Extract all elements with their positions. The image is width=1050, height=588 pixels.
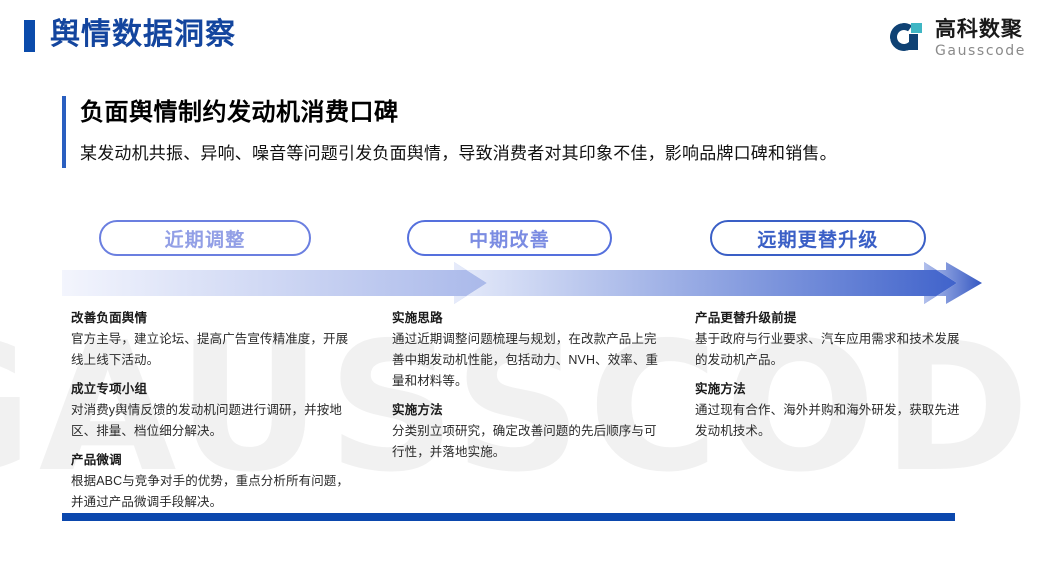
content-columns: 改善负面舆情 官方主导，建立论坛、提高广告宣传精准度，开展线上线下活动。 成立专… bbox=[62, 308, 982, 498]
block-heading: 成立专项小组 bbox=[71, 379, 356, 399]
content-block: 实施方法 通过现有合作、海外并购和海外研发，获取先进发动机技术。 bbox=[695, 379, 963, 442]
logo-accent-square bbox=[911, 23, 922, 33]
title-block: 负面舆情制约发动机消费口碑 某发动机共振、异响、噪音等问题引发负面舆情，导致消费… bbox=[62, 96, 962, 168]
main-title: 负面舆情制约发动机消费口碑 bbox=[80, 96, 962, 130]
block-body: 根据ABC与竞争对手的优势，重点分析所有问题，并通过产品微调手段解决。 bbox=[71, 471, 356, 513]
block-body: 分类别立项研究，确定改善问题的先后顺序与可行性，并落地实施。 bbox=[392, 421, 664, 463]
block-body: 通过近期调整问题梳理与规划，在改款产品上完善中期发动机性能，包括动力、NVH、效… bbox=[392, 329, 664, 392]
block-heading: 产品微调 bbox=[71, 450, 356, 470]
block-heading: 实施方法 bbox=[392, 400, 664, 420]
phase-pill-long-term[interactable]: 远期更替升级 bbox=[710, 220, 926, 256]
phase-label-row: 近期调整 中期改善 远期更替升级 bbox=[62, 220, 972, 258]
brand-logo-text: 高科数聚 Gausscode bbox=[935, 19, 1026, 58]
block-body: 对消费y舆情反馈的发动机问题进行调研，并按地区、排量、档位细分解决。 bbox=[71, 400, 356, 442]
brand-logo: 高科数聚 Gausscode bbox=[890, 16, 1026, 60]
page-title: 舆情数据洞察 bbox=[50, 13, 236, 57]
phase-pill-mid-term[interactable]: 中期改善 bbox=[407, 220, 612, 256]
logo-bar-shape bbox=[909, 34, 918, 50]
content-block: 成立专项小组 对消费y舆情反馈的发动机问题进行调研，并按地区、排量、档位细分解决… bbox=[71, 379, 356, 442]
content-block: 实施方法 分类别立项研究，确定改善问题的先后顺序与可行性，并落地实施。 bbox=[392, 400, 664, 463]
timeline-arrow bbox=[62, 262, 982, 304]
block-body: 通过现有合作、海外并购和海外研发，获取先进发动机技术。 bbox=[695, 400, 963, 442]
timeline-arrow-icon bbox=[62, 262, 982, 304]
block-body: 基于政府与行业要求、汽车应用需求和技术发展的发动机产品。 bbox=[695, 329, 963, 371]
column-near-term: 改善负面舆情 官方主导，建立论坛、提高广告宣传精准度，开展线上线下活动。 成立专… bbox=[71, 308, 356, 513]
page-header: 舆情数据洞察 高科数聚 Gausscode bbox=[0, 0, 1050, 72]
column-mid-term: 实施思路 通过近期调整问题梳理与规划，在改款产品上完善中期发动机性能，包括动力、… bbox=[392, 308, 664, 463]
content-block: 产品更替升级前提 基于政府与行业要求、汽车应用需求和技术发展的发动机产品。 bbox=[695, 308, 963, 371]
sub-title: 某发动机共振、异响、噪音等问题引发负面舆情，导致消费者对其印象不佳，影响品牌口碑… bbox=[80, 140, 962, 168]
block-heading: 产品更替升级前提 bbox=[695, 308, 963, 328]
content-block: 改善负面舆情 官方主导，建立论坛、提高广告宣传精准度，开展线上线下活动。 bbox=[71, 308, 356, 371]
block-body: 官方主导，建立论坛、提高广告宣传精准度，开展线上线下活动。 bbox=[71, 329, 356, 371]
brand-name-cn: 高科数聚 bbox=[935, 19, 1026, 40]
content-block: 实施思路 通过近期调整问题梳理与规划，在改款产品上完善中期发动机性能，包括动力、… bbox=[392, 308, 664, 392]
header-bullet-icon bbox=[24, 20, 35, 52]
phase-pill-near-term[interactable]: 近期调整 bbox=[99, 220, 311, 256]
gausscode-logo-icon bbox=[890, 21, 926, 55]
footer-bar bbox=[62, 513, 955, 521]
column-long-term: 产品更替升级前提 基于政府与行业要求、汽车应用需求和技术发展的发动机产品。 实施… bbox=[695, 308, 963, 442]
block-heading: 改善负面舆情 bbox=[71, 308, 356, 328]
brand-name-en: Gausscode bbox=[935, 44, 1026, 58]
content-block: 产品微调 根据ABC与竞争对手的优势，重点分析所有问题，并通过产品微调手段解决。 bbox=[71, 450, 356, 513]
block-heading: 实施方法 bbox=[695, 379, 963, 399]
block-heading: 实施思路 bbox=[392, 308, 664, 328]
